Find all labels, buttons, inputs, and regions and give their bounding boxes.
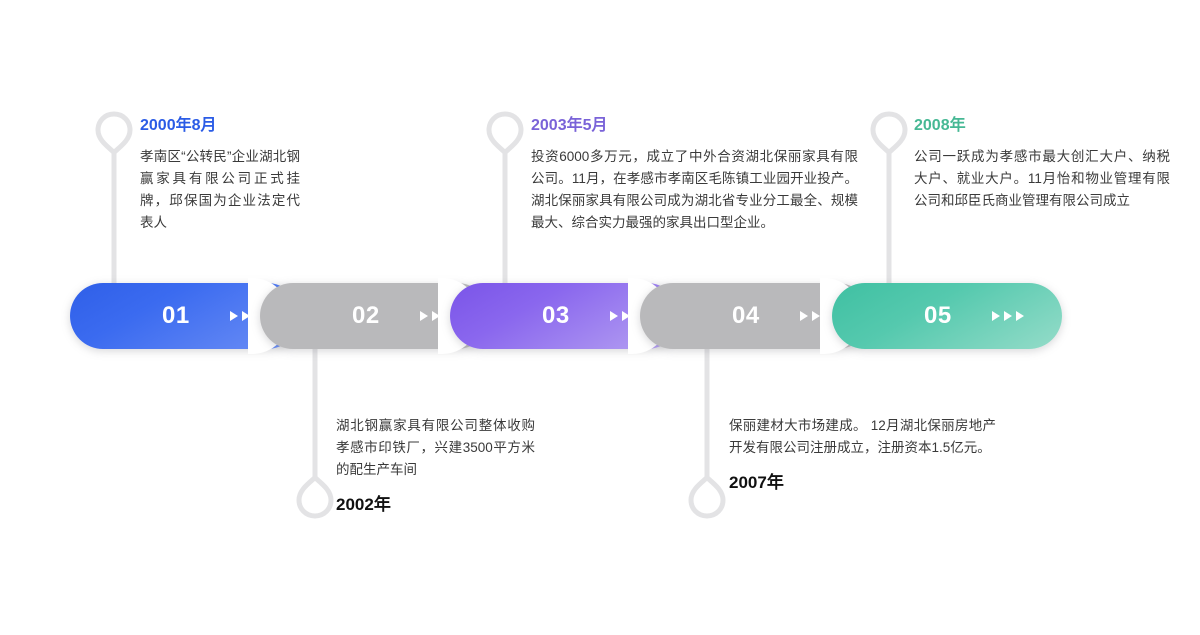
segment-number: 01 <box>162 304 190 328</box>
callout-above-2008: 2008年 公司一跃成为孝感市最大创汇大户、纳税大户、就业大户。11月怡和物业管… <box>914 116 1170 212</box>
callout-above-2003: 2003年5月 投资6000多万元，成立了中外合资湖北保丽家具有限公司。11月，… <box>531 116 858 234</box>
segment-number: 03 <box>542 304 570 328</box>
segment-number: 02 <box>352 304 380 328</box>
callout-body: 公司一跃成为孝感市最大创汇大户、纳税大户、就业大户。11月怡和物业管理有限公司和… <box>914 146 1170 212</box>
timeline-segment-05[interactable]: 05 <box>832 283 1062 349</box>
timeline-bar: 01 02 03 <box>70 283 1062 349</box>
callout-title: 2000年8月 <box>140 116 300 135</box>
segment-fill: 05 <box>832 283 1062 349</box>
callout-body: 投资6000多万元，成立了中外合资湖北保丽家具有限公司。11月，在孝感市孝南区毛… <box>531 146 858 233</box>
timeline-infographic: 2000年8月 孝南区“公转民”企业湖北钢赢家具有限公司正式挂牌，邱保国为企业法… <box>0 0 1200 635</box>
callout-title: 2008年 <box>914 116 1170 135</box>
callout-title: 2003年5月 <box>531 116 858 135</box>
pin-marker-above-2 <box>488 110 522 288</box>
segment-number: 04 <box>732 304 760 328</box>
pin-marker-below-1 <box>298 344 332 520</box>
pin-marker-above-3 <box>872 110 906 288</box>
callout-title: 2007年 <box>729 473 996 493</box>
callout-below-2002: 湖北钢赢家具有限公司整体收购孝感市印铁厂，兴建3500平方米的配生产车间 200… <box>336 415 535 515</box>
segment-number: 05 <box>924 304 952 328</box>
callout-body: 孝南区“公转民”企业湖北钢赢家具有限公司正式挂牌，邱保国为企业法定代表人 <box>140 146 300 233</box>
callout-title: 2002年 <box>336 495 535 515</box>
callout-below-2007: 保丽建材大市场建成。 12月湖北保丽房地产开发有限公司注册成立，注册资本1.5亿… <box>729 415 996 493</box>
callout-above-2000: 2000年8月 孝南区“公转民”企业湖北钢赢家具有限公司正式挂牌，邱保国为企业法… <box>140 116 300 234</box>
pin-marker-below-2 <box>690 344 724 520</box>
triple-right-arrow-icon <box>992 311 1024 321</box>
callout-body: 湖北钢赢家具有限公司整体收购孝感市印铁厂，兴建3500平方米的配生产车间 <box>336 415 535 481</box>
pin-marker-above-1 <box>97 110 131 288</box>
callout-body: 保丽建材大市场建成。 12月湖北保丽房地产开发有限公司注册成立，注册资本1.5亿… <box>729 415 996 459</box>
